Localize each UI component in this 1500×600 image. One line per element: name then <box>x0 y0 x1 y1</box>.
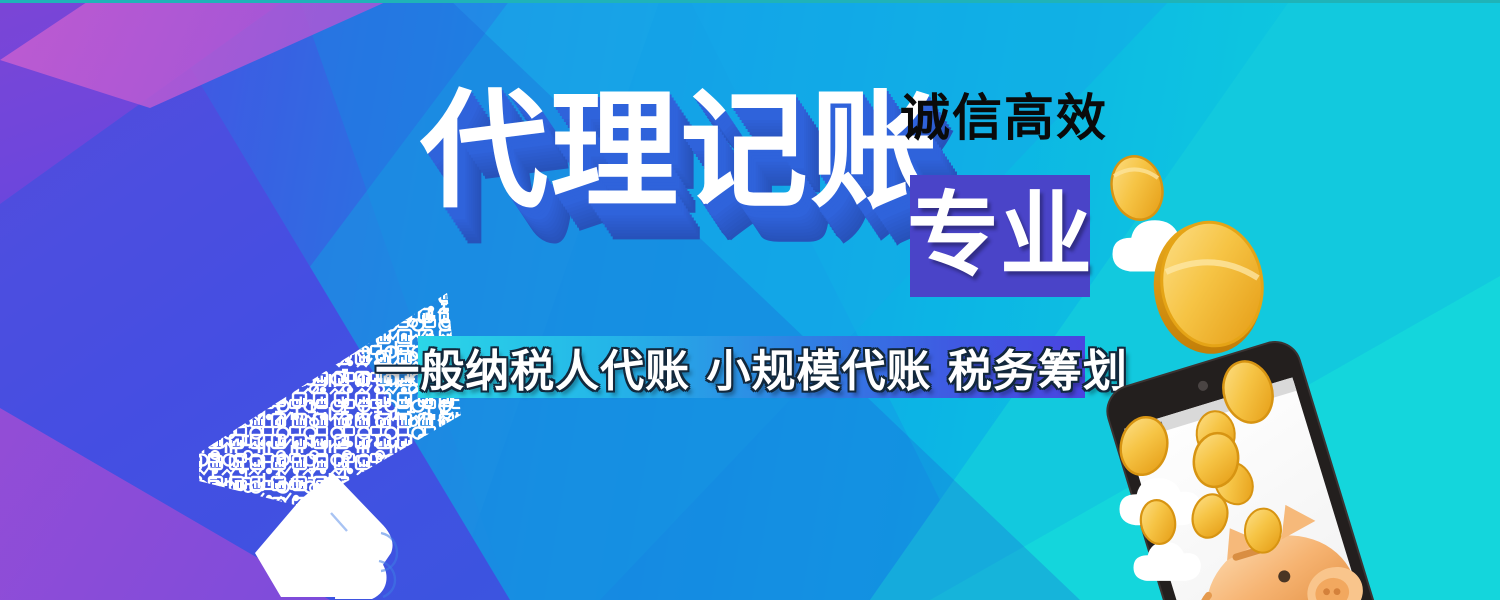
promo-banner: 代理记账 诚信高效 专业 一般纳税人代账 小规模代账 税务筹划 <box>0 0 1500 600</box>
tagline-text: 诚信高效 <box>900 78 1108 150</box>
services-bar-label: 一般纳税人代账 小规模代账 税务筹划 <box>375 335 1128 399</box>
status-badge-label: 专业 <box>907 190 1093 282</box>
gold-coins-icon <box>1105 151 1169 225</box>
page-title: 代理记账 <box>420 88 940 216</box>
phone-coins-illustration <box>1090 130 1420 600</box>
megaphone-icon <box>185 285 485 600</box>
services-bar: 一般纳税人代账 小规模代账 税务筹划 <box>418 336 1085 398</box>
top-rule-divider <box>0 0 1500 3</box>
megaphone-illustration <box>185 285 485 600</box>
status-badge: 专业 <box>910 175 1090 297</box>
